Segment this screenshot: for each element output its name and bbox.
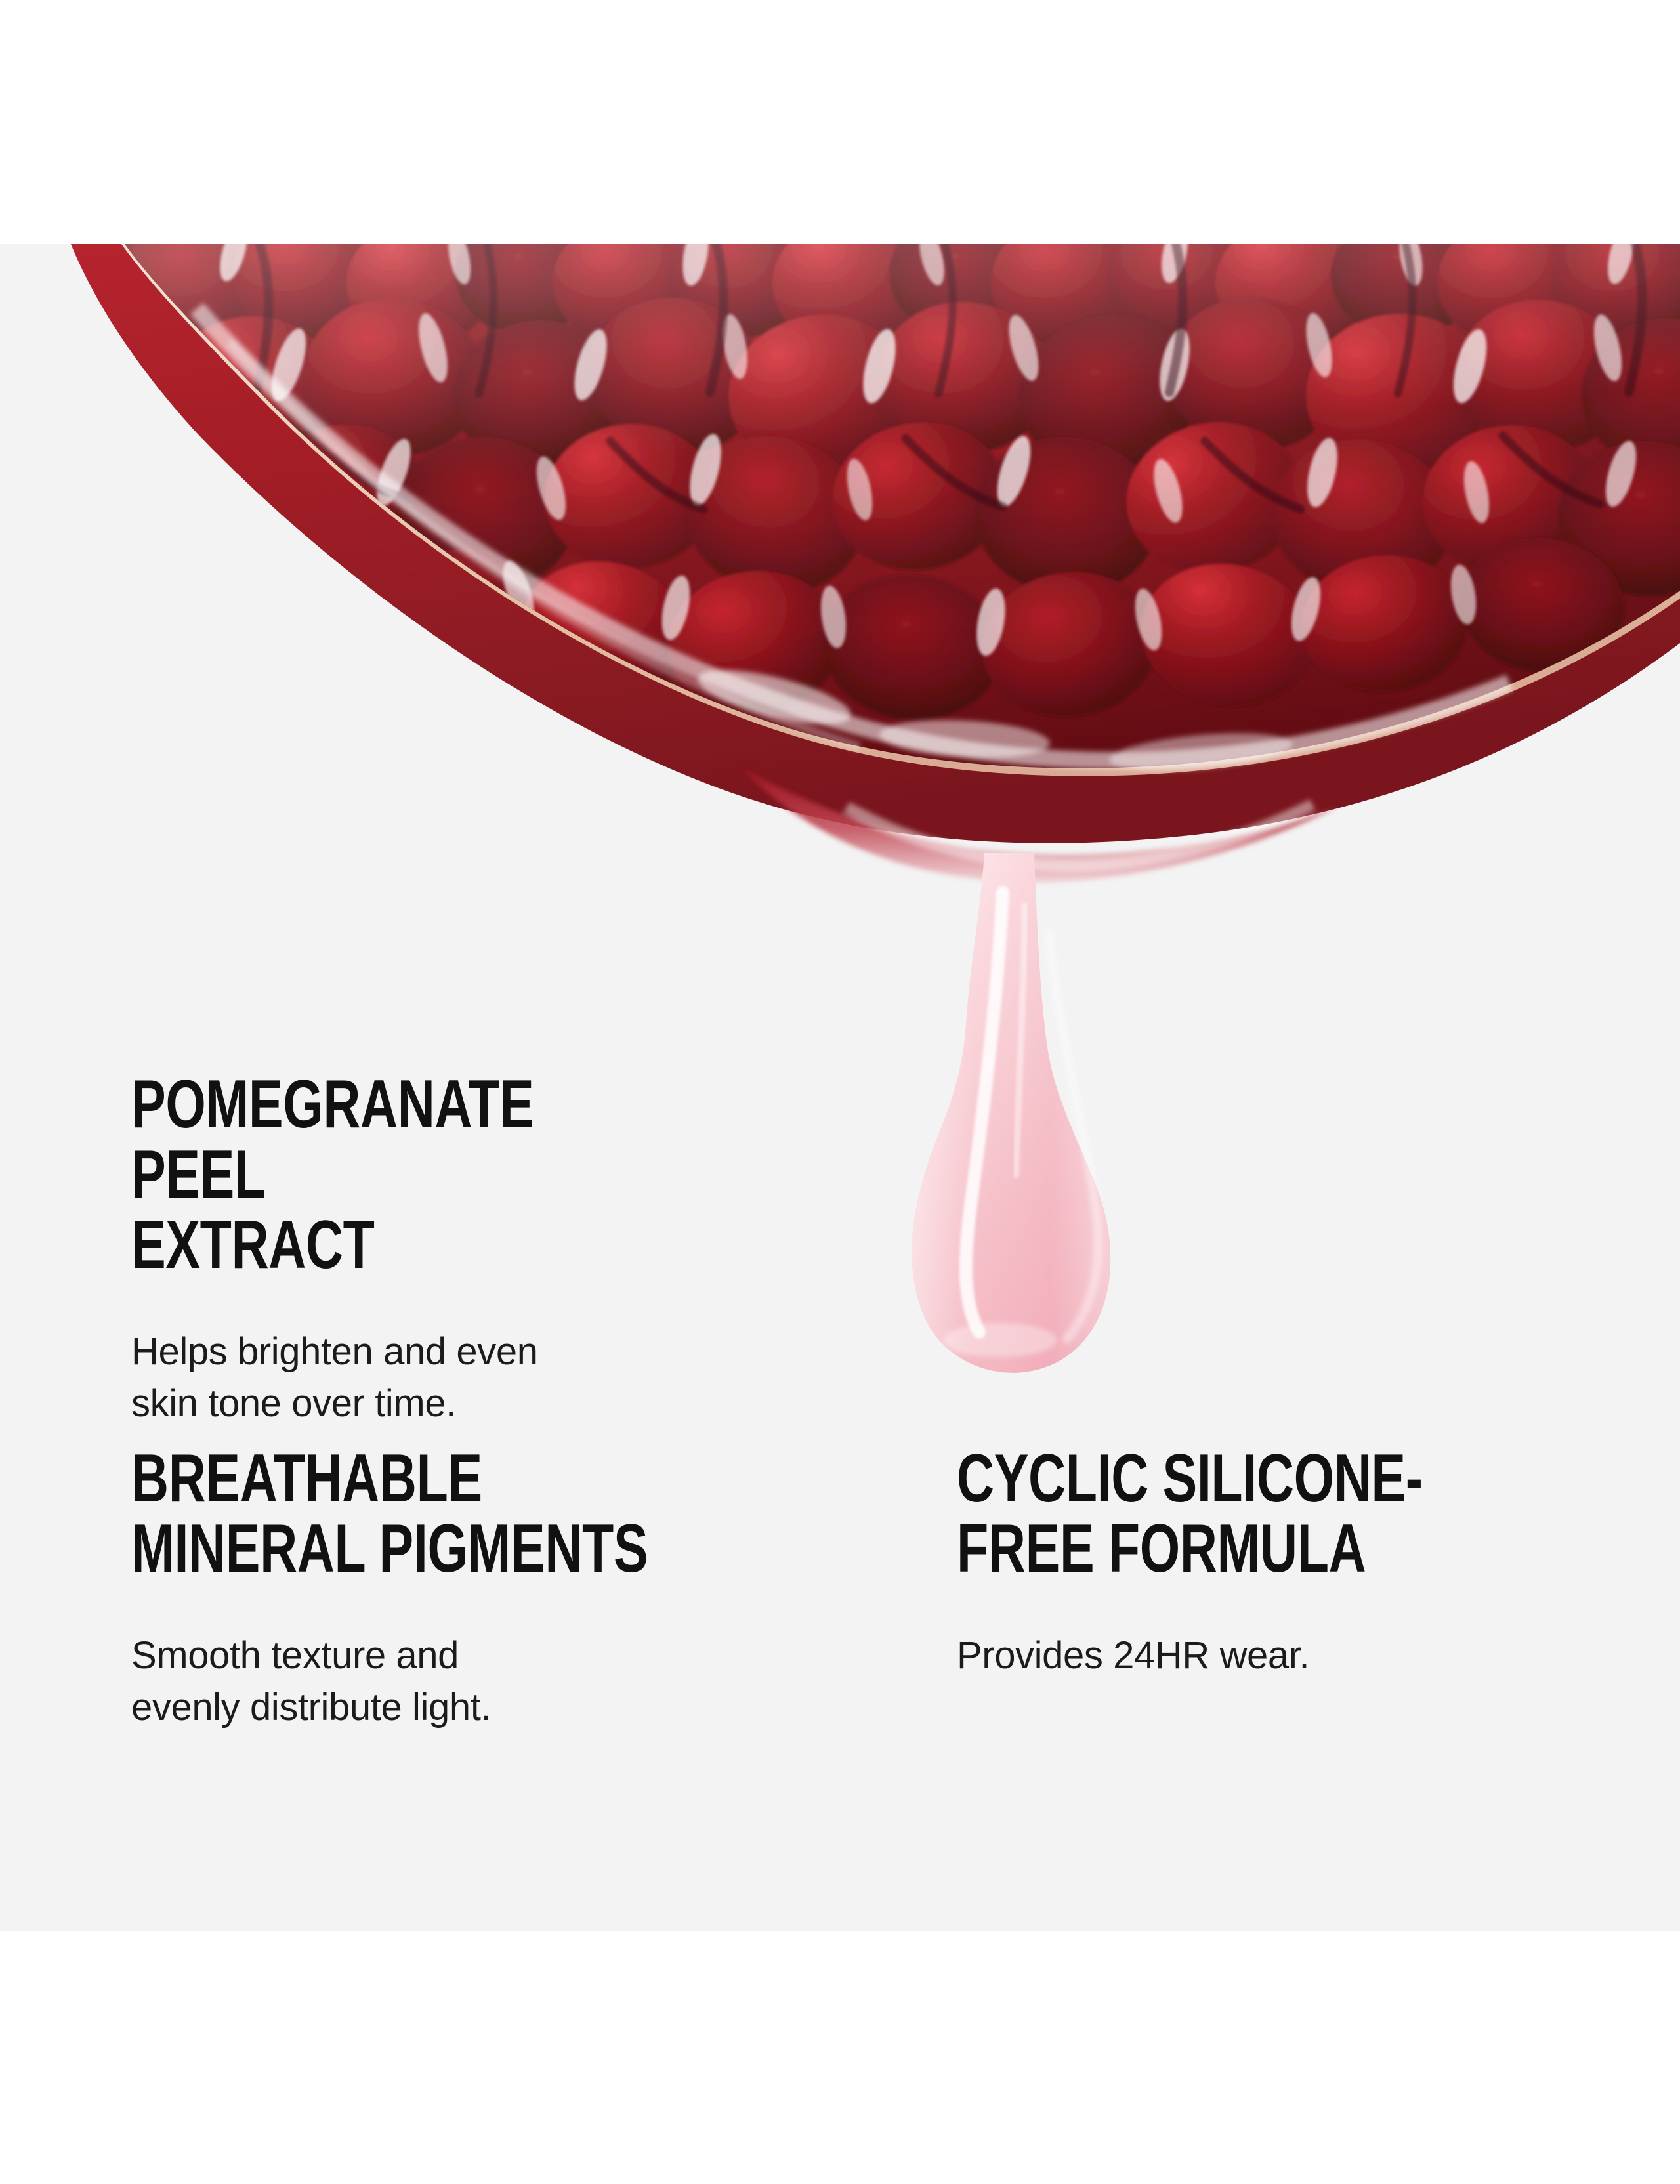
feature-title: CYCLIC SILICONE- FREE FORMULA (957, 1444, 1456, 1584)
feature-body: Helps brighten and even skin tone over t… (131, 1326, 840, 1430)
feature-title: BREATHABLE MINERAL PIGMENTS (131, 1444, 670, 1584)
feature-pomegranate-peel-extract: POMEGRANATE PEEL EXTRACT Helps brighten … (131, 1070, 840, 1430)
feature-breathable-mineral-pigments: BREATHABLE MINERAL PIGMENTS Smooth textu… (131, 1444, 840, 1734)
feature-body: Provides 24HR wear. (957, 1630, 1613, 1682)
feature-body: Smooth texture and evenly distribute lig… (131, 1630, 840, 1734)
feature-cyclic-silicone-free-formula: CYCLIC SILICONE- FREE FORMULA Provides 2… (957, 1444, 1613, 1682)
feature-title: POMEGRANATE PEEL EXTRACT (131, 1070, 670, 1280)
product-benefits-page: POMEGRANATE PEEL EXTRACT Helps brighten … (0, 0, 1680, 2184)
